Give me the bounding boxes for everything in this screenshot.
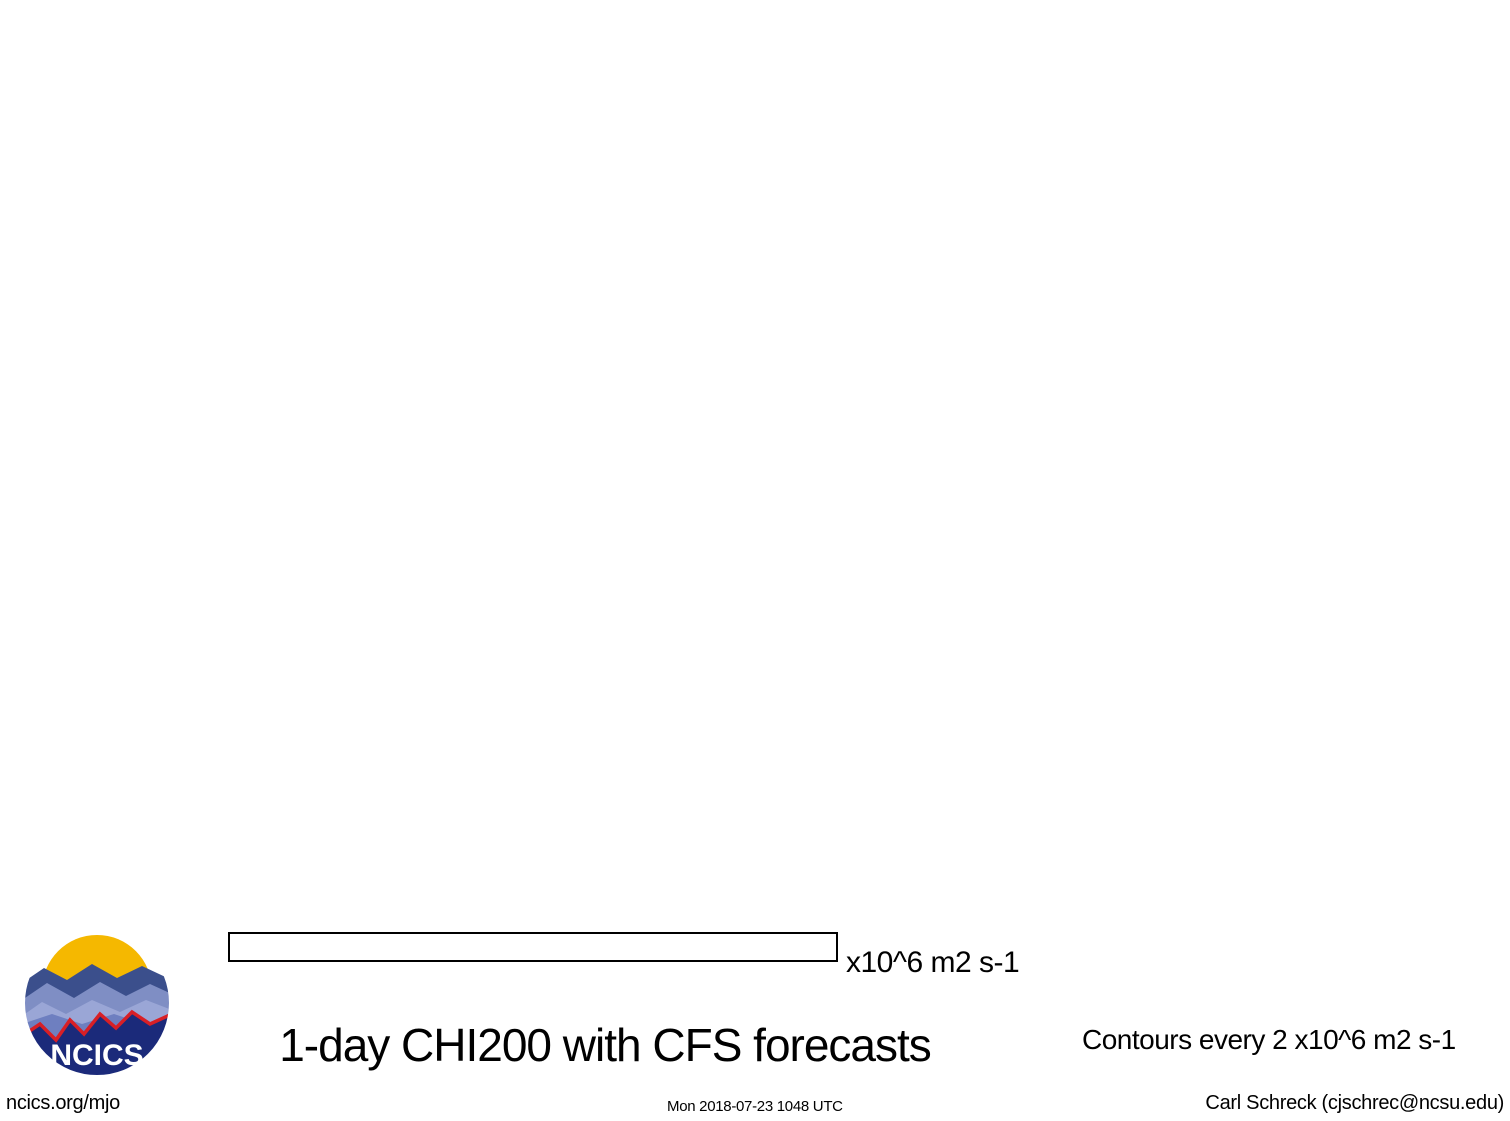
colorbar	[228, 932, 838, 962]
contour-interval-note: Contours every 2 x10^6 m2 s-1	[1082, 1026, 1456, 1054]
footer-website[interactable]: ncics.org/mjo	[6, 1093, 120, 1113]
logo-text: NCICS	[50, 1039, 143, 1072]
footer-author: Carl Schreck (cjschrec@ncsu.edu)	[1205, 1093, 1504, 1113]
ncics-logo: NCICS	[22, 928, 172, 1078]
colorbar-units-label: x10^6 m2 s-1	[846, 948, 1019, 978]
footer-timestamp: Mon 2018-07-23 1048 UTC	[667, 1097, 843, 1117]
figure-title: 1-day CHI200 with CFS forecasts	[205, 1022, 1005, 1068]
